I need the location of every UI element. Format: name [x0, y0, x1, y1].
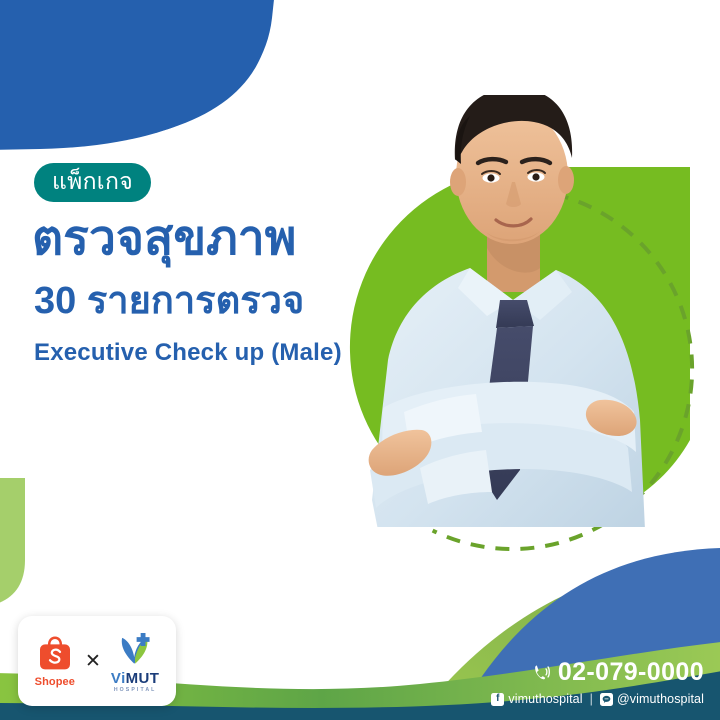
line-icon	[600, 693, 613, 706]
facebook-icon: f	[491, 693, 504, 706]
contact-block: 02-079-0000 f vimuthospital | @vimuthosp…	[491, 660, 704, 706]
facebook-handle: vimuthospital	[508, 692, 582, 706]
line-glyph-icon	[602, 695, 611, 704]
vimut-logo: ViMUT HOSPITAL	[111, 630, 159, 693]
package-badge: แพ็กเกจ	[34, 163, 151, 202]
social-row: f vimuthospital | @vimuthospital	[491, 692, 704, 706]
headline-secondary: 30 รายการตรวจ	[34, 281, 304, 323]
shopee-wordmark: Shopee	[35, 676, 75, 688]
vimut-wordmark: ViMUT	[111, 671, 159, 686]
line-handle: @vimuthospital	[617, 692, 704, 706]
vimut-letters-mut: MUT	[126, 670, 160, 687]
promo-banner: แพ็กเกจ ตรวจสุขภาพ 30 รายการตรวจ Executi…	[0, 0, 720, 720]
social-separator: |	[590, 692, 593, 706]
partner-logo-card: Shopee ✕ ViMUT HOSPITAL	[18, 616, 176, 706]
phone-row[interactable]: 02-079-0000	[491, 660, 704, 685]
shopee-bag-icon	[35, 634, 75, 674]
line-link[interactable]: @vimuthospital	[600, 692, 704, 706]
headline-primary: ตรวจสุขภาพ	[32, 213, 296, 266]
phone-icon	[531, 663, 550, 682]
facebook-link[interactable]: f vimuthospital	[491, 692, 582, 706]
vimut-heart-icon	[114, 630, 156, 670]
shopee-logo: Shopee	[35, 634, 75, 688]
headline-subtitle: Executive Check up (Male)	[34, 340, 342, 366]
vimut-sub-wordmark: HOSPITAL	[114, 687, 157, 693]
partnership-cross-icon: ✕	[85, 652, 101, 671]
vimut-letter-v: V	[111, 670, 121, 687]
phone-number: 02-079-0000	[558, 660, 704, 685]
